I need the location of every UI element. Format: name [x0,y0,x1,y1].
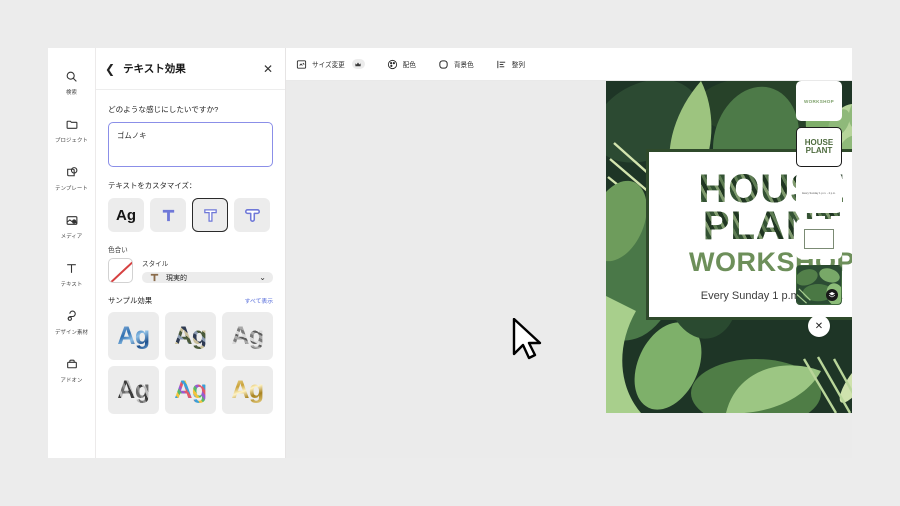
background-color-icon [438,59,449,70]
templates-icon [65,164,79,181]
color-option: 色合い [108,244,133,283]
sample-glyph: Ag [231,378,263,403]
page-title: テキスト効果 [123,61,263,76]
text-effects-panel: ❮ テキスト効果 ✕ どのような感じにしたいですか? ゴムノキ テキストをカスタ… [96,48,286,458]
crown-glyph [354,61,362,68]
sample-glyph: Ag [174,324,206,349]
chevron-left-icon[interactable]: ❮ [105,63,115,75]
prompt-label: どのような感じにしたいですか? [108,104,273,115]
toolbar-item-color-scheme[interactable]: 配色 [387,59,416,70]
samples-title: サンプル効果 [108,295,152,306]
t-bubble-icon [244,207,261,224]
t-outline-chip[interactable] [192,198,228,232]
options-row: 色合い スタイル 現実的 ⌄ [108,244,273,283]
show-all-link[interactable]: すべて表示 [245,296,273,305]
sidebar-item-projects[interactable]: プロジェクト [48,106,96,154]
layer-house-plant-text[interactable]: HOUSEPLANT [796,127,842,167]
sample-effect-gold[interactable]: Ag [222,366,273,414]
t-fill-chip[interactable] [150,198,186,232]
sample-effect-camouflage[interactable]: Ag [165,312,216,360]
layers-icon[interactable] [826,289,838,301]
canvas-stage: HOUSE PLANT WORKSHOP Every Sunday 1 p.m.… [286,81,852,458]
sidebar-item-label: 検索 [66,88,77,96]
toolbar-item-resize[interactable]: サイズ変更 [296,59,365,70]
toolbar-item-label: 背景色 [454,59,474,69]
text-icon [65,260,78,277]
toolbar-item-label: 配色 [403,59,416,69]
ag-glyph: Ag [116,207,136,224]
sample-glyph: Ag [174,378,206,403]
design-assets-icon [65,308,79,325]
sample-effect-confetti[interactable]: Ag [165,366,216,414]
panel-body: どのような感じにしたいですか? ゴムノキ テキストをカスタマイズ： Ag [96,90,285,458]
prompt-input[interactable]: ゴムノキ [108,122,273,167]
panel-header: ❮ テキスト効果 ✕ [96,48,285,90]
sidebar-item-text[interactable]: テキスト [48,250,96,298]
sample-effect-blue-glass[interactable]: Ag [108,312,159,360]
layer-frame-shape[interactable] [796,219,842,259]
frame-shape-icon [804,229,834,249]
search-icon [65,68,78,85]
crown-icon [352,59,365,69]
align-icon [496,59,507,70]
sidebar-item-label: メディア [61,232,83,240]
layers-panel: WORKSHOP HOUSEPLANT Every Sunday 1 p.m. … [788,80,850,337]
t-fill-icon [160,207,177,224]
sample-effect-silver-texture[interactable]: Ag [222,312,273,360]
sidebar-item-search[interactable]: 検索 [48,58,96,106]
customize-chip-row: Ag [108,198,273,232]
layer-leaf-background[interactable] [796,265,842,305]
sidebar-item-label: デザイン素材 [55,328,88,336]
close-icon[interactable]: ✕ [263,63,273,75]
sidebar-item-media[interactable]: メディア [48,202,96,250]
app-window: 検索 プロジェクト テンプレート メディア テキスト [48,48,852,458]
media-icon [65,212,79,229]
sample-glyph: Ag [117,324,149,349]
layer-label: Every Sunday 1 p.m. - 2 p.m. [802,192,836,195]
layer-label: HOUSEPLANT [805,139,833,154]
ag-style-chip[interactable]: Ag [108,198,144,232]
resize-icon [296,59,307,70]
samples-header: サンプル効果 すべて表示 [108,295,273,306]
style-label: スタイル [142,258,273,268]
sample-effect-stone[interactable]: Ag [108,366,159,414]
sidebar-item-templates[interactable]: テンプレート [48,154,96,202]
style-option: スタイル 現実的 ⌄ [142,258,273,283]
layer-label: WORKSHOP [804,99,834,104]
toolbar-item-label: サイズ変更 [312,59,345,69]
layers-glyph [828,291,836,299]
toolbar: サイズ変更 配色 背景色 整列 [286,48,852,81]
palette-icon [387,59,398,70]
sidebar-item-design-assets[interactable]: デザイン素材 [48,298,96,346]
color-swatch-none[interactable] [108,258,133,283]
sample-glyph: Ag [231,324,263,349]
sidebar-item-addons[interactable]: アドオン [48,346,96,394]
sample-glyph: Ag [117,378,149,403]
sidebar-item-label: アドオン [61,376,83,384]
mouse-pointer [512,318,542,365]
toolbar-item-align[interactable]: 整列 [496,59,525,70]
sidebar-item-label: プロジェクト [55,136,88,144]
customize-label: テキストをカスタマイズ： [108,180,273,191]
toolbar-item-background-color[interactable]: 背景色 [438,59,474,70]
samples-grid: Ag Ag Ag Ag Ag Ag [108,312,273,414]
sidebar-item-label: テンプレート [55,184,88,192]
color-label: 色合い [108,244,133,254]
style-dropdown[interactable]: 現実的 ⌄ [142,272,273,283]
t-bubble-chip[interactable] [234,198,270,232]
toolbar-item-label: 整列 [512,59,525,69]
style-value: 現実的 [166,273,253,283]
left-rail: 検索 プロジェクト テンプレート メディア テキスト [48,48,96,458]
addons-icon [65,356,79,373]
chevron-down-icon: ⌄ [259,273,266,282]
texture-t-icon [149,272,160,283]
t-outline-icon [202,207,219,224]
layer-workshop-text[interactable]: WORKSHOP [796,81,842,121]
sidebar-item-label: テキスト [61,280,83,288]
close-layers-button[interactable]: ✕ [808,315,830,337]
folder-icon [65,116,79,133]
canvas-area: HOUSE PLANT WORKSHOP Every Sunday 1 p.m.… [286,81,852,458]
layer-schedule-text[interactable]: Every Sunday 1 p.m. - 2 p.m. [796,173,842,213]
main-area: サイズ変更 配色 背景色 整列 [286,48,852,458]
